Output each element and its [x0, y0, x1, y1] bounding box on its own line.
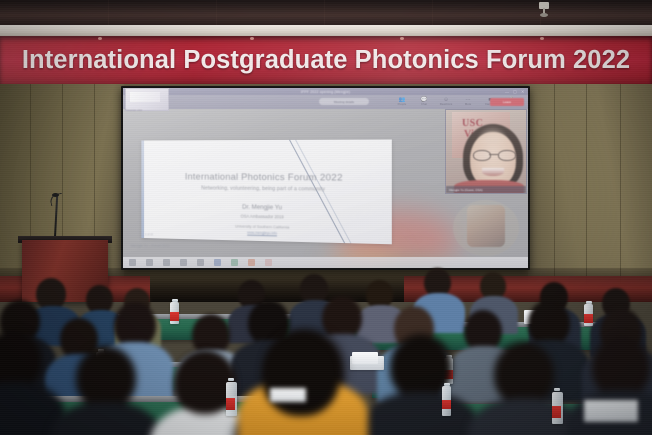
- video-tile-name-label: Mengjie Yu (Guest, OSA): [446, 186, 526, 193]
- chrome-icon[interactable]: [265, 259, 272, 266]
- app-window-title: IPPF 2022 opening (Mengjie): [123, 88, 528, 95]
- handout-paper: [352, 352, 378, 364]
- presentation-slide: International Photonics Forum 2022 Netwo…: [141, 139, 391, 244]
- ceiling-projector-icon: [536, 2, 552, 16]
- slide-subtitle: Networking, volunteering, being part of …: [141, 185, 391, 194]
- browser-icon[interactable]: [180, 259, 187, 266]
- slide-page-indicator: 1 of 15: [145, 232, 153, 236]
- event-banner: International Postgraduate Photonics For…: [0, 36, 652, 85]
- video-tile-presenter[interactable]: USC Viterbi Mengjie Yu (Guest, OSA): [445, 109, 527, 194]
- water-bottle: [584, 304, 593, 326]
- maximize-icon[interactable]: ▢: [513, 90, 517, 94]
- app-titlebar: IPPF 2022 opening (Mengjie) — ▢ ✕: [123, 88, 528, 95]
- presenter-smile: [482, 168, 504, 176]
- presenter-preview-thumbnail[interactable]: [125, 88, 169, 111]
- powerpoint-icon[interactable]: [248, 259, 255, 266]
- video-tile-second[interactable]: [453, 200, 519, 256]
- water-bottle: [552, 392, 563, 424]
- microphone-head-icon: [52, 193, 59, 197]
- conference-photo: International Postgraduate Photonics For…: [0, 0, 652, 435]
- banner-title: International Postgraduate Photonics For…: [0, 36, 652, 85]
- os-taskbar[interactable]: [123, 257, 528, 268]
- handout-paper: [270, 388, 306, 402]
- teams-icon[interactable]: [214, 259, 221, 266]
- presenter-preview-caption: Presenter view: [125, 109, 167, 112]
- search-icon[interactable]: [146, 259, 153, 266]
- laptop: [584, 400, 638, 422]
- close-icon[interactable]: ✕: [521, 90, 525, 94]
- toolbar-reactions-button[interactable]: ☺ Reactions: [435, 97, 457, 107]
- presenter-note: Mengjie Yu – Forum 2022: [131, 244, 170, 248]
- water-bottle: [226, 382, 237, 416]
- minimize-icon[interactable]: —: [505, 90, 509, 94]
- leave-meeting-button[interactable]: Leave: [490, 98, 524, 106]
- mail-icon[interactable]: [197, 259, 204, 266]
- toolbar-people-button[interactable]: 👥 People: [391, 97, 413, 107]
- window-controls[interactable]: — ▢ ✕: [505, 90, 525, 94]
- meeting-details-button[interactable]: Meeting details: [319, 98, 369, 105]
- projection-screen: IPPF 2022 opening (Mengjie) — ▢ ✕ Meetin…: [123, 88, 528, 268]
- folder-icon[interactable]: [163, 259, 170, 266]
- presenter-forehead: [476, 126, 509, 143]
- glasses-icon: [473, 150, 514, 159]
- start-icon[interactable]: [129, 259, 136, 266]
- toolbar-more-button[interactable]: ··· More: [457, 97, 479, 107]
- wall-panel-right: [528, 84, 652, 284]
- water-bottle: [442, 386, 451, 416]
- slide-title: International Photonics Forum 2022: [141, 171, 391, 184]
- water-bottle: [170, 302, 179, 324]
- toolbar-chat-button[interactable]: 💬 Chat: [413, 97, 435, 107]
- video-icon[interactable]: [231, 259, 238, 266]
